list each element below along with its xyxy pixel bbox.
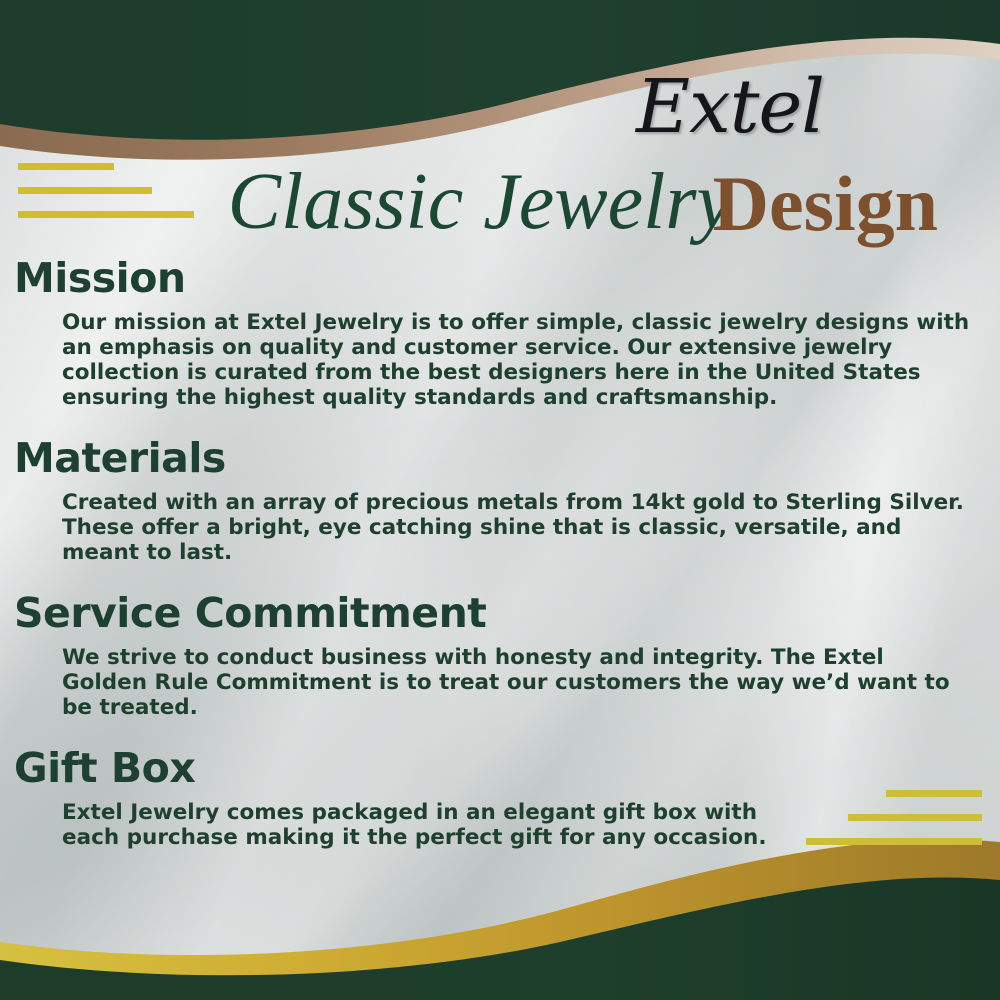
accent-line	[18, 211, 194, 218]
accent-lines-top-left	[18, 163, 194, 235]
poster-canvas: Extel Classic Jewelry Design Mission Our…	[0, 0, 1000, 1000]
brand-logo-extel: Extel	[600, 70, 860, 144]
section-materials: Materials Created with an array of preci…	[0, 432, 1000, 565]
section-heading-service-commitment: Service Commitment	[0, 587, 1000, 639]
accent-line	[18, 187, 152, 194]
section-gift-box: Gift Box Extel Jewelry comes packaged in…	[0, 742, 1000, 850]
title-classic-jewelry: Classic Jewelry	[228, 152, 732, 252]
section-heading-gift-box: Gift Box	[0, 742, 1000, 794]
section-heading-mission: Mission	[0, 252, 1000, 304]
section-mission: Mission Our mission at Extel Jewelry is …	[0, 252, 1000, 410]
section-heading-materials: Materials	[0, 432, 1000, 484]
section-service-commitment: Service Commitment We strive to conduct …	[0, 587, 1000, 720]
section-body-materials: Created with an array of precious metals…	[0, 484, 1000, 565]
section-body-gift-box: Extel Jewelry comes packaged in an elega…	[0, 794, 832, 850]
content-sections: Mission Our mission at Extel Jewelry is …	[0, 252, 1000, 850]
section-body-service-commitment: We strive to conduct business with hones…	[0, 639, 1000, 720]
section-body-mission: Our mission at Extel Jewelry is to offer…	[0, 304, 1000, 410]
title-design: Design	[713, 154, 938, 254]
accent-line	[18, 163, 114, 170]
